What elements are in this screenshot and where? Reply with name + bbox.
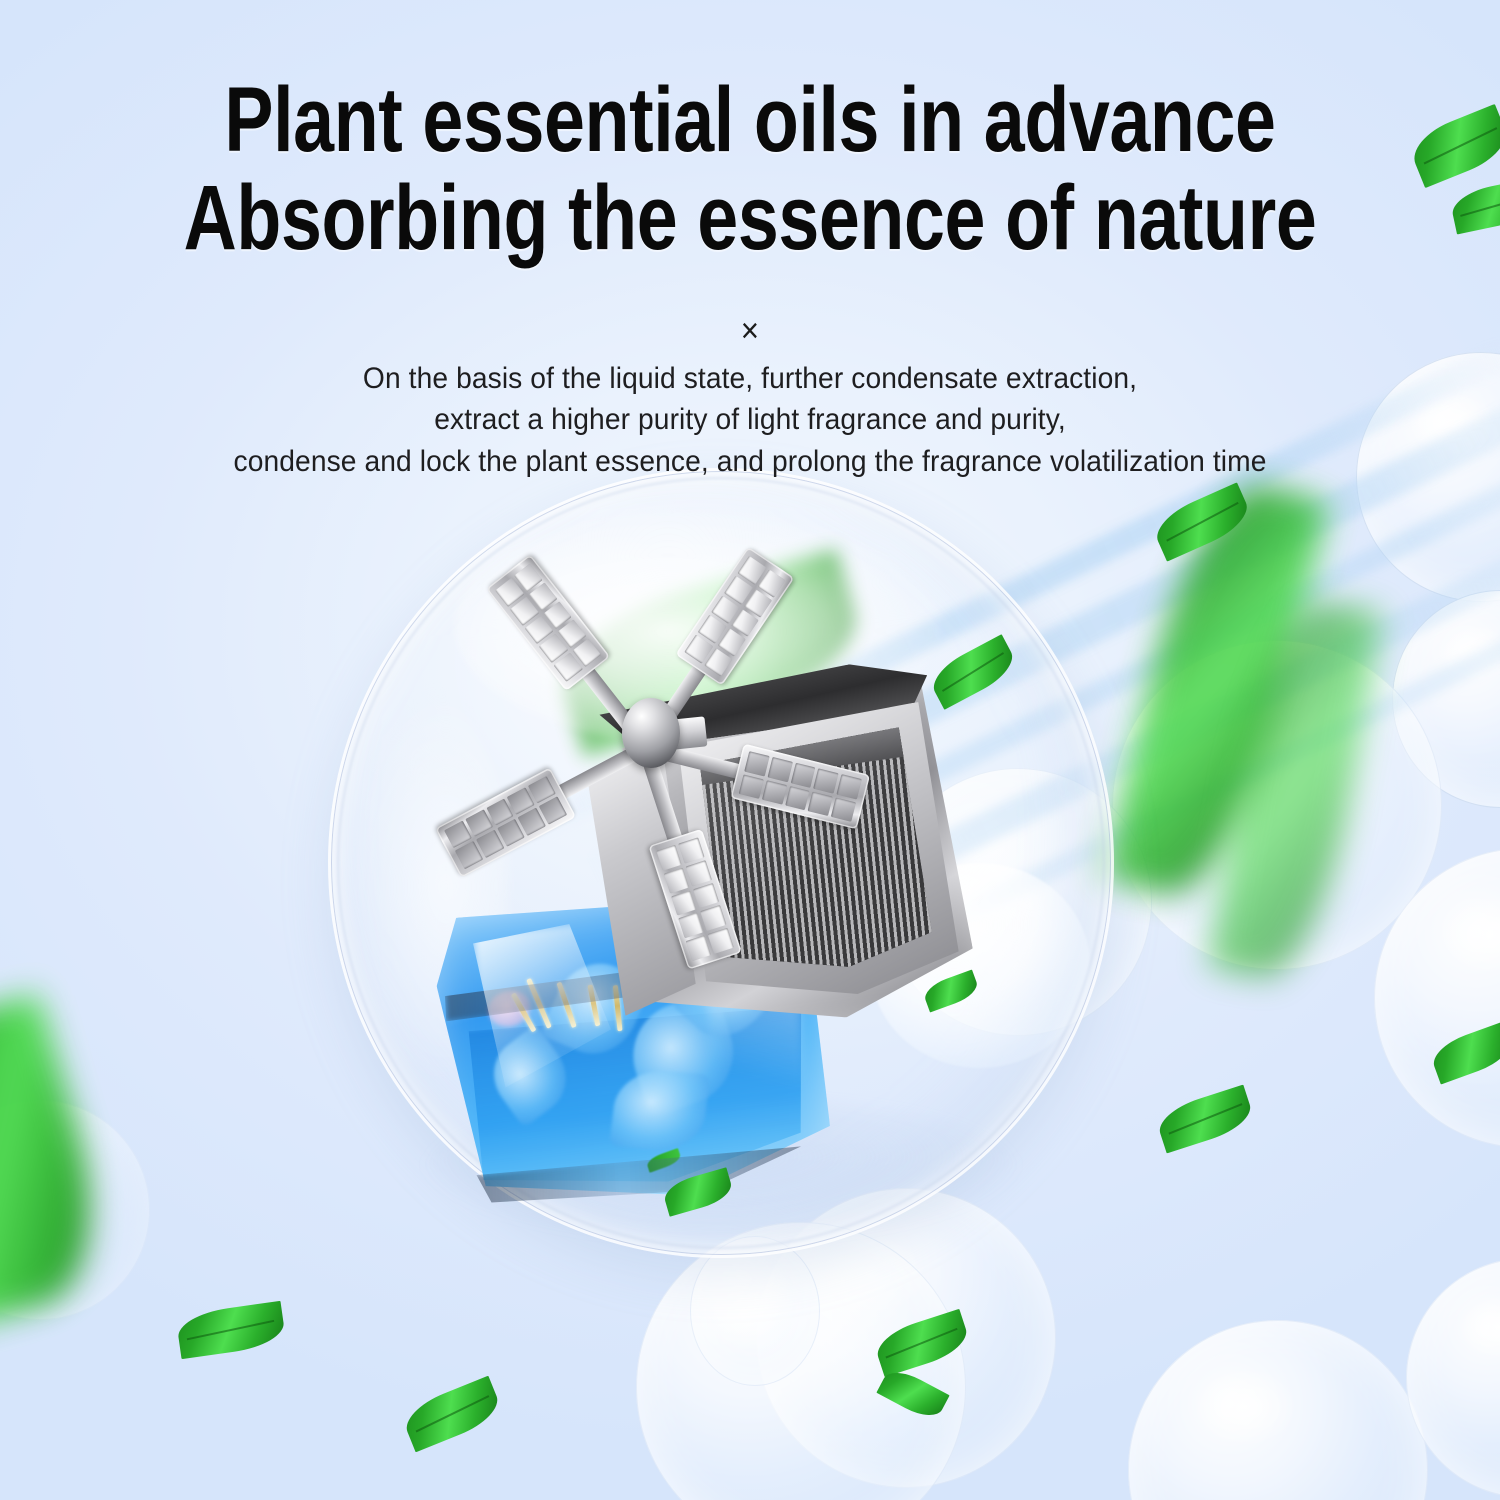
background-bubble — [1128, 1320, 1428, 1500]
leaf-icon — [1428, 1021, 1500, 1084]
subcopy: On the basis of the liquid state, furthe… — [0, 358, 1500, 482]
leaf-icon — [399, 1376, 504, 1453]
product-banner: Plant essential oils in advance Absorbin… — [0, 0, 1500, 1500]
leaf-icon — [175, 1301, 286, 1359]
headline: Plant essential oils in advance Absorbin… — [0, 72, 1500, 267]
divider: × — [0, 312, 1500, 351]
subcopy-line-2: extract a higher purity of light fragran… — [45, 399, 1455, 440]
background-bubble — [1112, 640, 1442, 970]
glass-sphere — [328, 468, 1114, 1258]
leaf-icon — [872, 1309, 972, 1377]
x-mark-icon: × — [741, 312, 759, 351]
headline-line-2: Absorbing the essence of nature — [150, 170, 1350, 268]
background-bubble — [0, 1100, 150, 1320]
leaf-icon — [1101, 471, 1329, 910]
background-bubble — [690, 1236, 820, 1386]
subcopy-line-1: On the basis of the liquid state, furthe… — [45, 358, 1455, 399]
leaf-icon — [0, 994, 120, 1326]
background-bubble — [636, 1222, 966, 1500]
sphere-rim — [328, 468, 1114, 1258]
headline-line-1: Plant essential oils in advance — [150, 72, 1350, 170]
leaf-icon — [876, 1364, 949, 1423]
leaf-icon — [1154, 1085, 1256, 1154]
leaf-icon — [1149, 482, 1255, 561]
subcopy-line-3: condense and lock the plant essence, and… — [45, 441, 1455, 482]
leaf-icon — [1208, 593, 1382, 986]
background-bubble — [1392, 590, 1500, 808]
background-bubble — [1374, 848, 1500, 1148]
background-bubble — [1406, 1258, 1500, 1498]
